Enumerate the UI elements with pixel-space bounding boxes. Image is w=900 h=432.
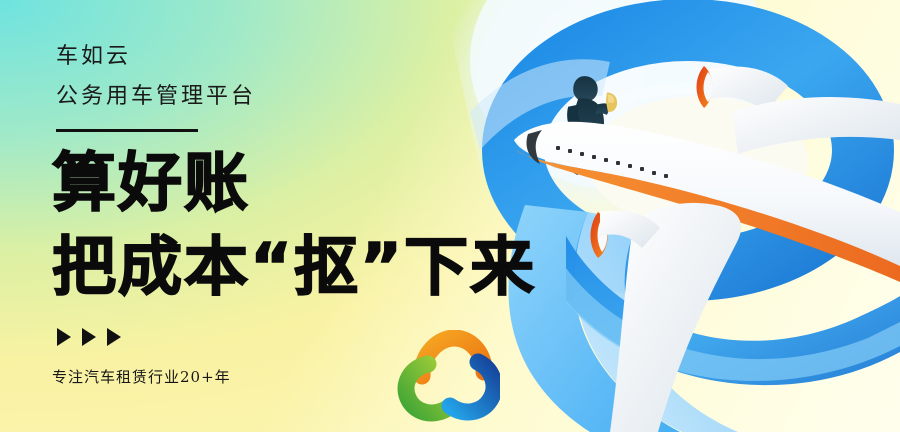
triangle-right-icon	[82, 328, 96, 346]
tagline-block: 专注汽车租赁行业20+年	[52, 328, 231, 387]
promo-banner: 车如云 公务用车管理平台 算好账 把成本“抠”下来 专注汽车租赁行业20+年	[0, 0, 900, 432]
triangle-right-icon	[57, 328, 71, 346]
blue-arc	[450, 362, 494, 412]
brand-block: 车如云 公务用车管理平台	[56, 44, 576, 132]
brand-name: 车如云	[56, 44, 576, 70]
headline-line-2: 把成本“抠”下来	[52, 236, 536, 300]
arrow-row	[57, 328, 231, 346]
tagline-text: 专注汽车租赁行业20+年	[52, 366, 231, 387]
headline-block: 算好账 把成本“抠”下来	[52, 152, 536, 300]
brand-subtitle: 公务用车管理平台	[56, 84, 576, 110]
triangle-right-icon	[107, 328, 121, 346]
cloud-trefoil-logo	[396, 330, 500, 422]
divider-rule	[56, 129, 198, 132]
headline-line-1: 算好账	[52, 152, 536, 216]
